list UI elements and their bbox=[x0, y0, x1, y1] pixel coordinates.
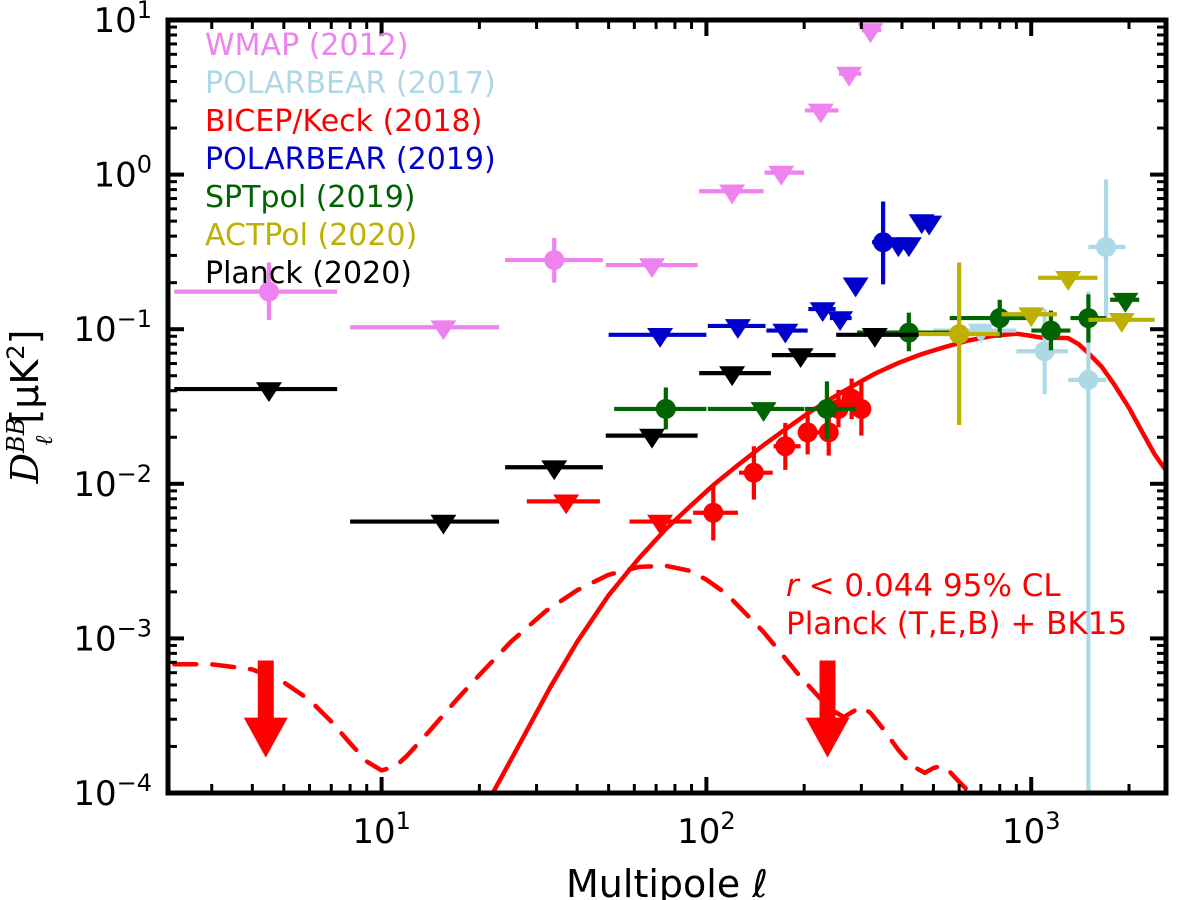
data-point-circle bbox=[656, 399, 676, 419]
upper-limit-triangle bbox=[843, 278, 869, 298]
upper-limit-triangle bbox=[725, 319, 751, 339]
upper-limit-triangle bbox=[862, 328, 888, 348]
bb-power-spectrum-plot: 10110210310110010−110−210−310−4Multipole… bbox=[0, 0, 1200, 900]
r-limit-annotation-line2: Planck (T,E,B) + BK15 bbox=[786, 606, 1127, 642]
annotation-layer: r < 0.044 95% CLPlanck (T,E,B) + BK15 bbox=[786, 568, 1127, 642]
upper-limit-arrows-layer bbox=[244, 660, 850, 757]
data-point-circle bbox=[544, 250, 564, 270]
upper-limit-triangle bbox=[1112, 293, 1138, 313]
y-tick-label-1: 100 bbox=[93, 151, 152, 196]
svg-text:DBBℓ [μK2]: DBBℓ [μK2] bbox=[2, 330, 58, 485]
upper-limit-triangle bbox=[751, 402, 777, 422]
r-limit-annotation-line1: r < 0.044 95% CL bbox=[786, 568, 1061, 604]
upper-limit-triangle bbox=[827, 311, 853, 331]
data-point-circle bbox=[1041, 321, 1061, 341]
upper-limit-triangle bbox=[788, 348, 814, 368]
upper-limit-triangle bbox=[639, 429, 665, 449]
upper-limit-triangle bbox=[639, 258, 665, 278]
legend-item-polarbear-2017: POLARBEAR (2017) bbox=[205, 66, 496, 101]
upper-limit-triangle bbox=[647, 328, 673, 348]
series-polarbear-2017 bbox=[933, 179, 1125, 793]
upper-limit-triangle bbox=[836, 67, 862, 87]
chart-root: 10110210310110010−110−210−310−4Multipole… bbox=[0, 0, 1200, 900]
upper-limit-triangle bbox=[772, 324, 798, 344]
data-point-circle bbox=[798, 422, 818, 442]
data-point-circle bbox=[949, 324, 969, 344]
upper-limit-triangle bbox=[719, 184, 745, 204]
upper-limit-arrow-right bbox=[806, 660, 850, 757]
axis-labels-layer: 10110210310110010−110−210−310−4Multipole… bbox=[2, 0, 1060, 900]
upper-limit-triangle bbox=[768, 166, 794, 186]
y-tick-label-2: 10−1 bbox=[73, 305, 152, 350]
legend-item-bicep-keck-2018: BICEP/Keck (2018) bbox=[205, 104, 482, 139]
y-axis-title: DBBℓ [μK2] bbox=[2, 330, 58, 485]
upper-limit-triangle bbox=[1109, 313, 1135, 333]
x-tick-label-2: 103 bbox=[1002, 807, 1061, 852]
data-point-circle bbox=[1096, 237, 1116, 257]
upper-limit-triangle bbox=[430, 320, 456, 340]
upper-limit-triangle bbox=[541, 460, 567, 480]
y-tick-label-3: 10−2 bbox=[73, 460, 152, 505]
legend-item-wmap-2012: WMAP (2012) bbox=[205, 28, 408, 63]
y-tick-label-5: 10−4 bbox=[73, 769, 152, 814]
x-tick-label-1: 102 bbox=[677, 807, 736, 852]
data-point-circle bbox=[744, 463, 764, 483]
upper-limit-triangle bbox=[430, 515, 456, 535]
data-point-circle bbox=[703, 503, 723, 523]
upper-limit-triangle bbox=[256, 382, 282, 402]
upper-limit-arrow-left bbox=[244, 660, 288, 757]
series-polarbear-2019 bbox=[609, 201, 943, 347]
series-sptpol-2019 bbox=[614, 293, 1139, 439]
legend-item-sptpol-2019: SPTpol (2019) bbox=[205, 180, 415, 215]
data-point-circle bbox=[775, 436, 795, 456]
data-point-circle bbox=[1078, 370, 1098, 390]
upper-limit-triangle bbox=[553, 495, 579, 515]
upper-limit-triangle bbox=[1055, 271, 1081, 291]
data-point-circle bbox=[817, 399, 837, 419]
y-tick-label-0: 101 bbox=[93, 0, 152, 41]
legend-item-actpol-2020: ACTPol (2020) bbox=[205, 218, 417, 253]
x-axis-title: Multipole ℓ bbox=[566, 862, 768, 900]
legend-item-polarbear-2019: POLARBEAR (2019) bbox=[205, 142, 496, 177]
y-tick-label-4: 10−3 bbox=[73, 614, 152, 659]
upper-limit-triangle bbox=[719, 366, 745, 386]
x-tick-label-0: 101 bbox=[352, 807, 411, 852]
legend-layer: WMAP (2012)POLARBEAR (2017)BICEP/Keck (2… bbox=[205, 28, 496, 291]
legend-item-planck-2020: Planck (2020) bbox=[205, 256, 412, 291]
data-point-circle bbox=[899, 323, 919, 343]
upper-limit-triangle bbox=[808, 104, 834, 124]
data-point-circle bbox=[990, 308, 1010, 328]
